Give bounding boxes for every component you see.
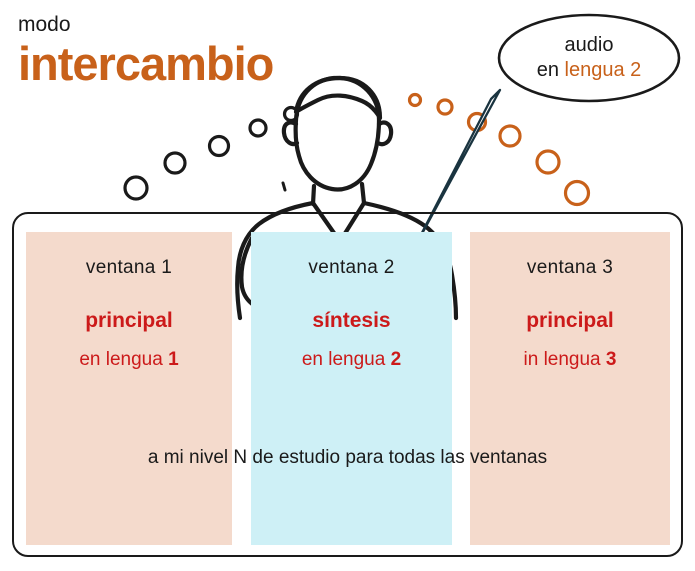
window-column-2[interactable]: ventana 2 síntesis en lengua 2 xyxy=(251,232,452,545)
window-column-1-content: ventana 1 principal en lengua 1 xyxy=(26,232,232,372)
window-column-2-content: ventana 2 síntesis en lengua 2 xyxy=(251,232,452,372)
window-1-title: ventana 1 xyxy=(26,257,232,280)
window-1-language-prefix: en lengua xyxy=(79,349,168,370)
window-3-mode: principal xyxy=(470,308,670,333)
windows-container: ventana 1 principal en lengua 1 ventana … xyxy=(0,0,695,571)
footer-caption: a mi nivel N de estudio para todas las v… xyxy=(0,447,695,469)
window-2-language: en lengua 2 xyxy=(251,349,452,372)
window-3-language-number: 3 xyxy=(606,349,617,370)
window-2-title: ventana 2 xyxy=(251,257,452,280)
window-column-3-content: ventana 3 principal in lengua 3 xyxy=(470,232,670,372)
window-1-mode: principal xyxy=(26,308,232,333)
window-3-language-prefix: in lengua xyxy=(524,349,606,370)
window-2-mode: síntesis xyxy=(251,308,452,333)
window-3-language: in lengua 3 xyxy=(470,349,670,372)
window-column-1[interactable]: ventana 1 principal en lengua 1 xyxy=(26,232,232,545)
window-1-language: en lengua 1 xyxy=(26,349,232,372)
window-column-3[interactable]: ventana 3 principal in lengua 3 xyxy=(470,232,670,545)
window-1-language-number: 1 xyxy=(168,349,179,370)
window-2-language-number: 2 xyxy=(391,349,402,370)
window-3-title: ventana 3 xyxy=(470,257,670,280)
window-2-language-prefix: en lengua xyxy=(302,349,391,370)
